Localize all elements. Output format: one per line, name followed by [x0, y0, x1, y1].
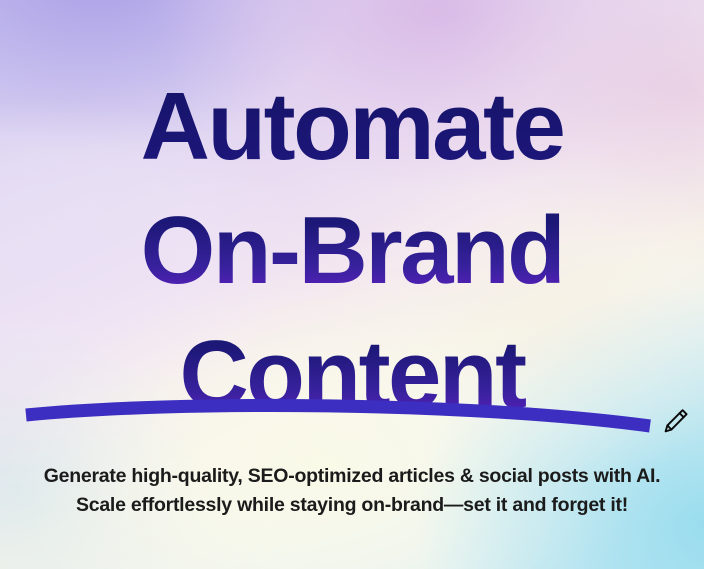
pencil-icon-glyph — [661, 406, 691, 438]
hero-section: Automate On-Brand Content Generate high-… — [0, 0, 704, 569]
headline-line-2: On-Brand — [0, 189, 704, 313]
headline-line-1: Automate — [0, 65, 704, 189]
hero-headline: Automate On-Brand Content — [0, 65, 704, 437]
pencil-icon[interactable] — [661, 406, 691, 438]
curved-underline-icon — [0, 392, 704, 452]
hero-subtitle: Generate high-quality, SEO-optimized art… — [18, 462, 686, 520]
headline-underline-swoosh — [0, 392, 704, 452]
